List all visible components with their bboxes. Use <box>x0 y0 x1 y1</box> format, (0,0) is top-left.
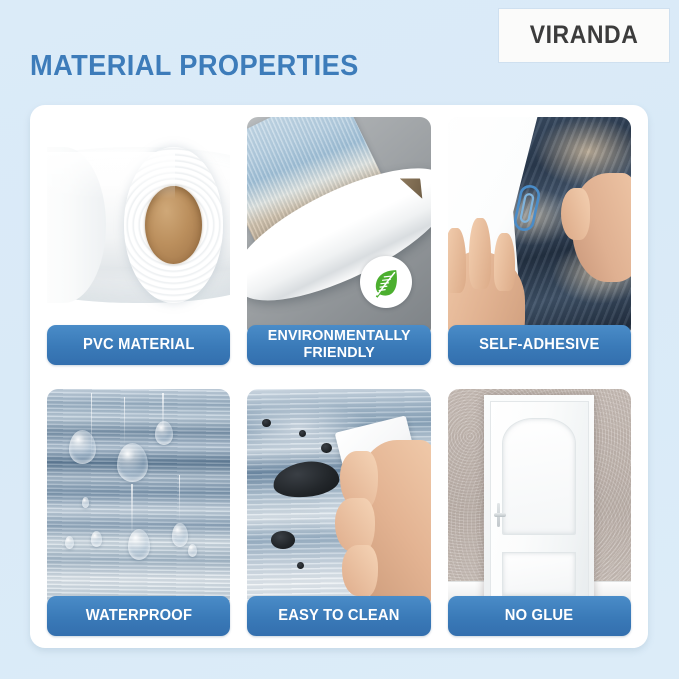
feature-tile-self-adhesive: SELF-ADHESIVE <box>448 117 631 365</box>
features-grid: PVC MATERIAL <box>47 117 631 636</box>
feature-label-text: ENVIRONMENTALLY FRIENDLY <box>267 328 410 360</box>
features-card: PVC MATERIAL <box>30 105 648 648</box>
right-hand <box>572 173 631 281</box>
self-adhesive-image <box>448 117 631 334</box>
feature-tile-easy-to-clean: EASY TO CLEAN <box>247 389 430 637</box>
feature-label-no-glue: NO GLUE <box>448 596 631 636</box>
ink-stain <box>321 443 332 454</box>
eco-roll-image <box>247 117 430 334</box>
ink-stain <box>271 531 295 548</box>
door-panel-bottom <box>502 552 576 596</box>
finger <box>494 233 515 291</box>
feature-label-text: WATERPROOF <box>85 608 191 624</box>
hand-holding-cloth <box>354 440 431 605</box>
page-title: MATERIAL PROPERTIES <box>30 50 359 83</box>
feature-label-waterproof: WATERPROOF <box>47 596 230 636</box>
easy-to-clean-image <box>247 389 430 606</box>
water-droplet <box>91 531 102 546</box>
handle-lever <box>494 513 507 517</box>
finger <box>561 188 590 240</box>
feature-label-text: SELF-ADHESIVE <box>479 337 599 353</box>
feature-tile-waterproof: WATERPROOF <box>47 389 230 637</box>
brand-logo-box: VIRANDA <box>499 9 669 62</box>
ink-stain <box>299 430 306 438</box>
finger <box>469 218 491 289</box>
finger <box>342 545 378 596</box>
door-panel-top <box>502 418 576 535</box>
feature-tile-pvc-material: PVC MATERIAL <box>47 117 230 365</box>
feature-label-pvc-material: PVC MATERIAL <box>47 325 230 365</box>
finger <box>335 498 375 552</box>
pvc-roll-image <box>47 117 230 334</box>
leaf-icon <box>360 256 412 308</box>
door-frame <box>484 395 594 605</box>
drop-trail <box>131 484 133 536</box>
feature-tile-no-glue: NO GLUE <box>448 389 631 637</box>
feature-label-self-adhesive: SELF-ADHESIVE <box>448 325 631 365</box>
feature-label-text: EASY TO CLEAN <box>278 608 399 624</box>
water-droplet <box>82 497 89 508</box>
drop-trail <box>124 397 126 445</box>
feature-tile-environmentally-friendly: ENVIRONMENTALLY FRIENDLY <box>247 117 430 365</box>
feature-label-text: PVC MATERIAL <box>83 337 195 353</box>
left-hand <box>448 251 525 333</box>
waterproof-image <box>47 389 230 606</box>
no-glue-door-image <box>448 389 631 606</box>
drop-trail <box>179 475 181 523</box>
water-droplet <box>172 523 188 547</box>
surface-grain-texture <box>47 389 230 606</box>
feature-label-text: NO GLUE <box>505 608 573 624</box>
roll-sheen-highlight <box>47 152 175 200</box>
water-droplet <box>117 443 148 482</box>
brand-name: VIRANDA <box>530 21 639 50</box>
finger <box>448 228 466 292</box>
door-leaf <box>490 401 589 605</box>
door-handle-icon <box>494 503 507 527</box>
feature-label-easy-to-clean: EASY TO CLEAN <box>247 596 430 636</box>
water-droplet <box>128 529 150 559</box>
feature-label-environmentally-friendly: ENVIRONMENTALLY FRIENDLY <box>247 325 430 365</box>
